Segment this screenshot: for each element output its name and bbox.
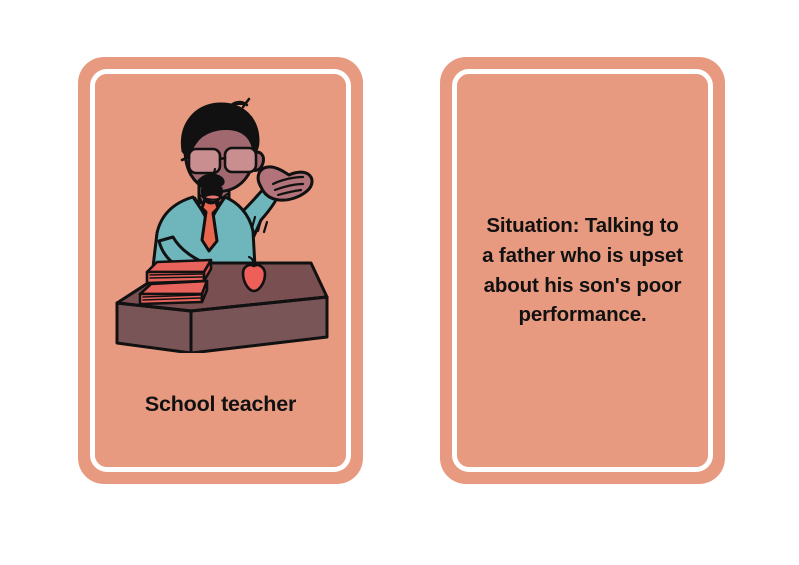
mustache: [198, 175, 223, 185]
teacher-illustration-svg: [103, 91, 339, 353]
situation-card[interactable]: Situation: Talking to a father who is up…: [440, 57, 725, 484]
role-card-inner: School teacher: [95, 74, 346, 467]
situation-card-inner: Situation: Talking to a father who is up…: [457, 74, 708, 467]
stacked-books: [140, 260, 211, 304]
situation-card-text: Situation: Talking to a father who is up…: [480, 211, 686, 330]
role-card[interactable]: School teacher: [78, 57, 363, 484]
flashcard-stage: School teacher Situation: Talking to a f…: [0, 0, 799, 565]
necktie: [202, 199, 218, 251]
role-card-caption: School teacher: [95, 392, 346, 418]
school-teacher-at-desk-illustration: [95, 88, 346, 356]
eyeglasses: [182, 148, 256, 173]
